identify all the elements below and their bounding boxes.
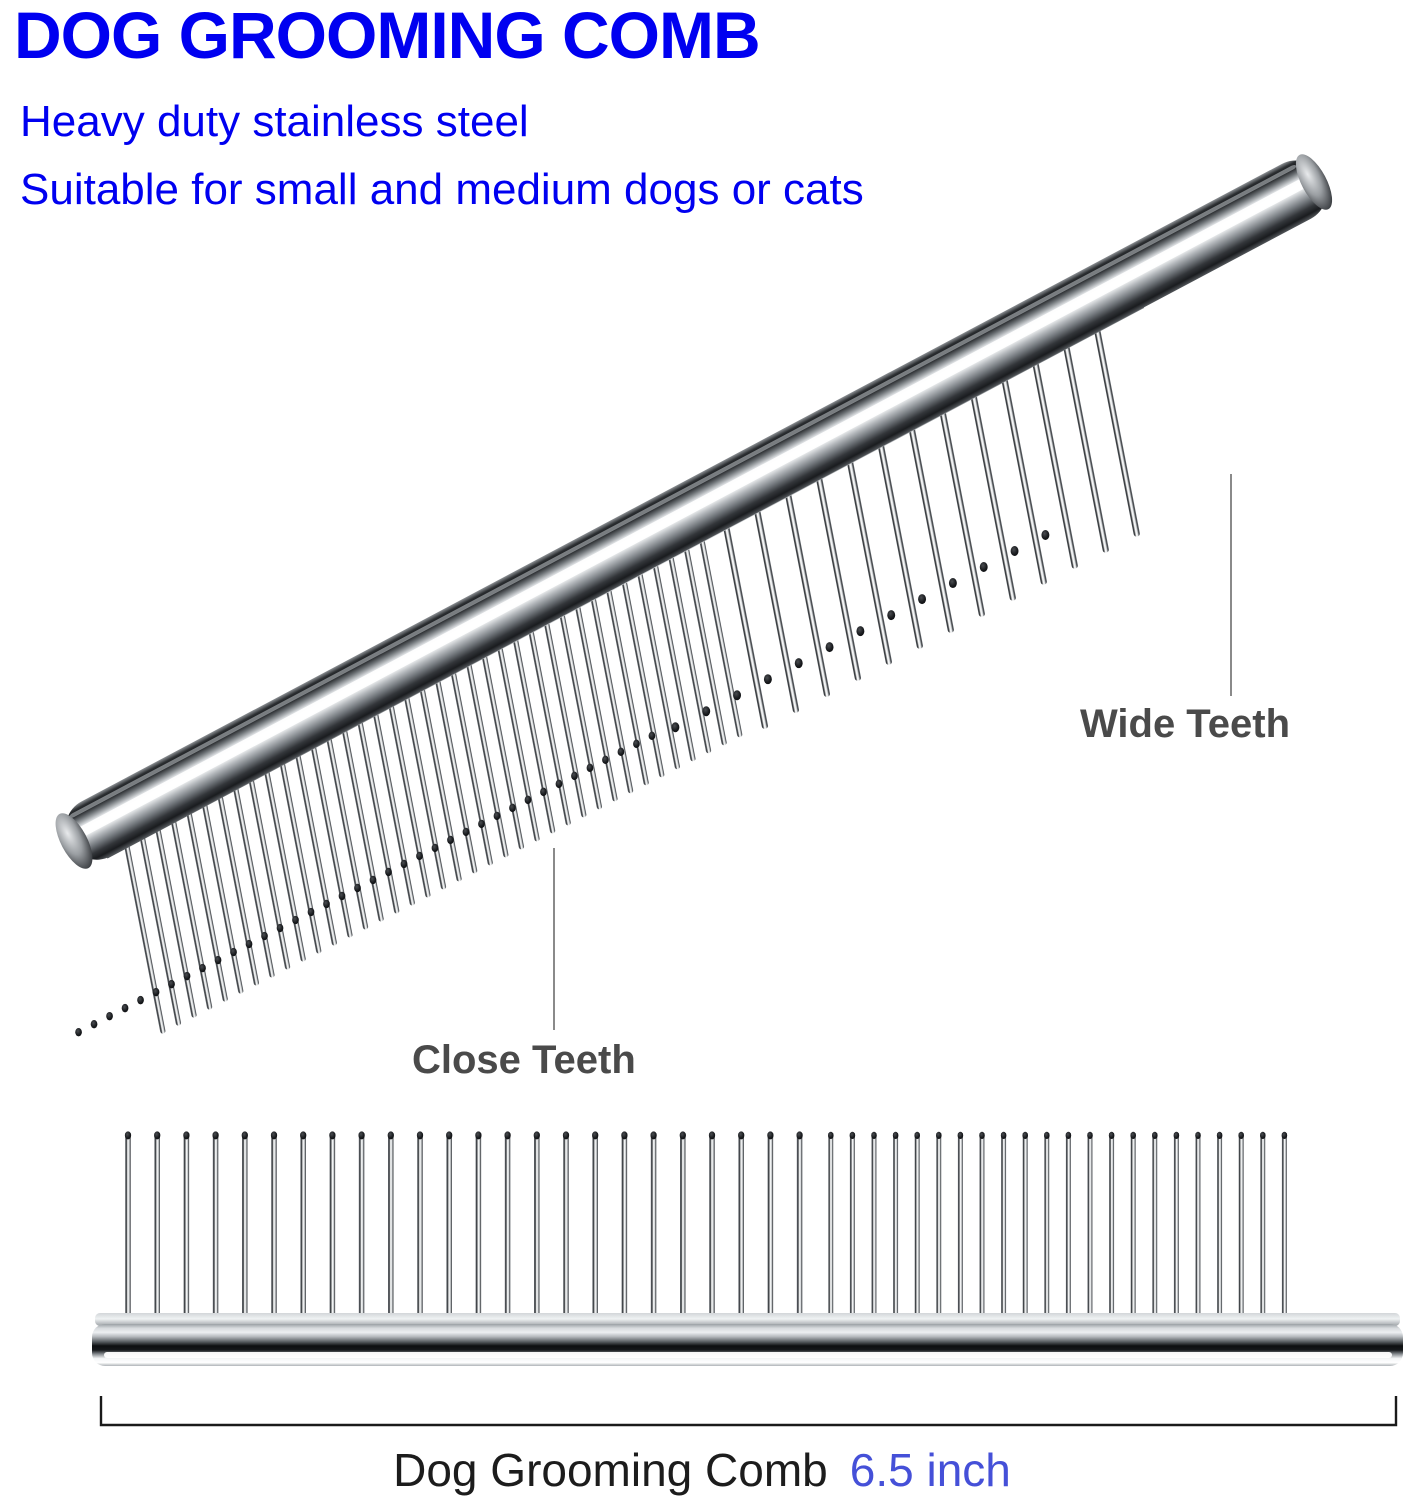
close-teeth-label: Close Teeth (412, 1038, 636, 1083)
comb-tooth (1022, 1132, 1028, 1322)
comb-tooth (1282, 1132, 1288, 1322)
comb-tooth (979, 1132, 985, 1322)
comb-tooth (1109, 1132, 1115, 1322)
comb-tooth (125, 1131, 131, 1322)
comb-tooth (212, 1131, 218, 1322)
comb-tooth (1260, 1132, 1266, 1322)
comb-tooth (650, 1131, 656, 1322)
comb-tooth (358, 1131, 364, 1322)
comb-tooth (680, 1131, 686, 1322)
comb-tooth (1044, 1132, 1050, 1322)
comb-handle (48, 149, 1339, 874)
comb-tooth (914, 1132, 920, 1322)
product-infographic: DOG GROOMING COMB Heavy duty stainless s… (0, 0, 1404, 1500)
caption-size: 6.5 inch (850, 1444, 1011, 1496)
product-caption: Dog Grooming Comb6.5 inch (0, 1443, 1404, 1497)
close-teeth-leader-line (553, 848, 555, 1030)
comb-tooth (1001, 1132, 1007, 1322)
comb-tooth (475, 1131, 481, 1322)
angled-comb-artwork (48, 149, 1339, 1036)
comb-tooth (796, 1131, 802, 1322)
caption-product-name: Dog Grooming Comb (393, 1444, 828, 1496)
comb-tooth (592, 1131, 598, 1322)
angled-comb-teeth (75, 300, 1140, 1037)
flat-comb-spine-bar (92, 1324, 1403, 1366)
product-image-flat-comb (92, 1131, 1403, 1366)
comb-tooth (417, 1131, 423, 1322)
comb-tooth (154, 1131, 160, 1322)
comb-tooth (1238, 1132, 1244, 1322)
comb-tooth (850, 1132, 856, 1322)
comb-tooth (271, 1131, 277, 1322)
comb-tooth (621, 1131, 627, 1322)
comb-tooth (958, 1132, 964, 1322)
wide-teeth-leader-line (1230, 474, 1232, 696)
comb-tooth (388, 1131, 394, 1322)
comb-tooth (534, 1131, 540, 1322)
comb-tooth (709, 1131, 715, 1322)
comb-tooth (1174, 1132, 1180, 1322)
flat-comb-spine-highlight (104, 1352, 1392, 1358)
comb-tooth (828, 1132, 834, 1322)
comb-tooth (1152, 1132, 1158, 1322)
comb-tooth (1217, 1132, 1223, 1322)
comb-tooth (893, 1132, 899, 1322)
comb-tooth (871, 1132, 877, 1322)
comb-tooth (183, 1131, 189, 1322)
wide-teeth-label: Wide Teeth (1080, 702, 1290, 747)
comb-tooth (738, 1131, 744, 1322)
comb-tooth (242, 1131, 248, 1322)
comb-tooth (767, 1131, 773, 1322)
product-image-angled-comb (0, 0, 1404, 1500)
comb-tooth (1195, 1132, 1201, 1322)
comb-tooth (1066, 1132, 1072, 1322)
comb-tooth (1087, 1132, 1093, 1322)
comb-tooth (936, 1132, 942, 1322)
comb-tooth (329, 1131, 335, 1322)
comb-tooth (300, 1131, 306, 1322)
comb-tooth (504, 1131, 510, 1322)
comb-tooth (1130, 1132, 1136, 1322)
comb-tooth (446, 1131, 452, 1322)
comb-tooth (563, 1131, 569, 1322)
handle-barrel (55, 150, 1337, 870)
